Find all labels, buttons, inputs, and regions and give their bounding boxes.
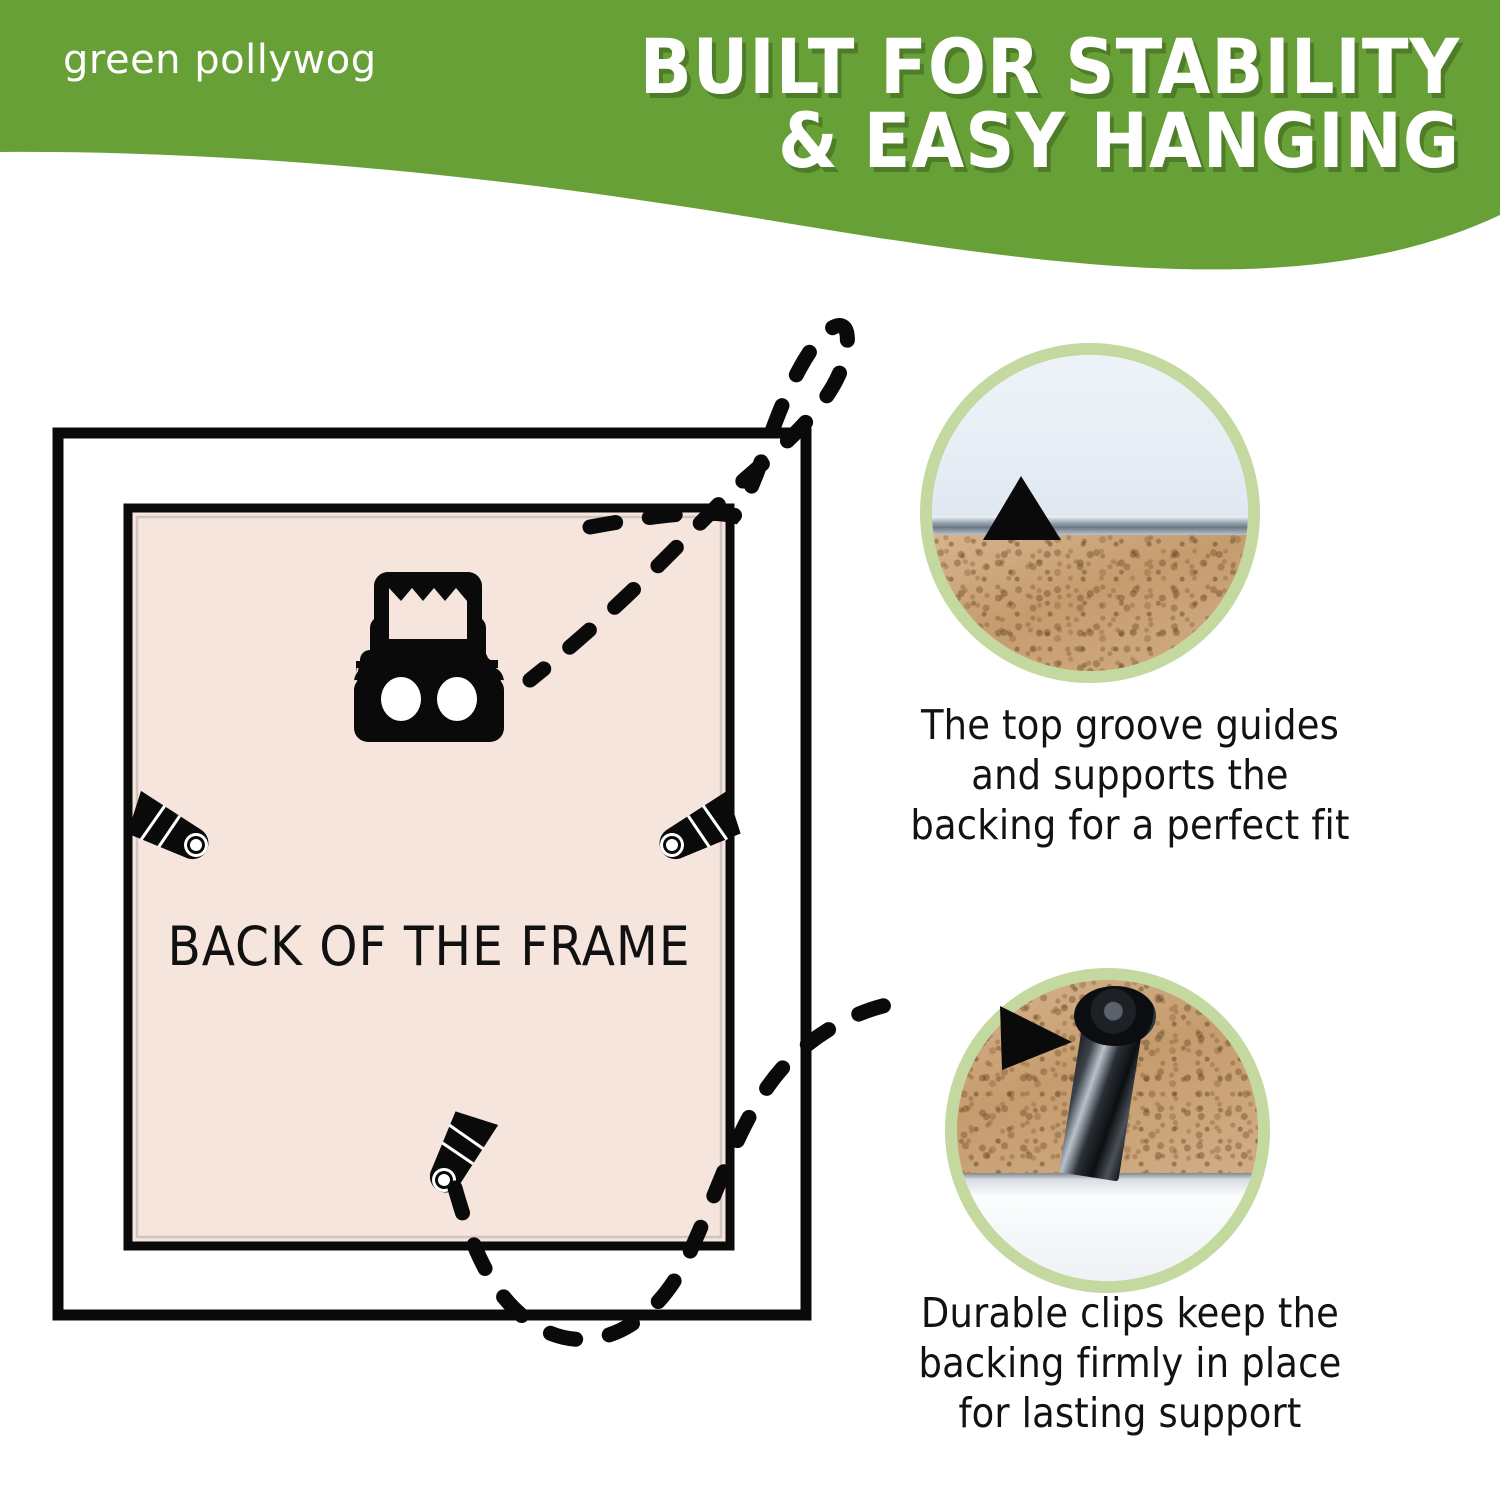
photo-metal-clip-rivet [1074,986,1155,1046]
photo-groove-closeup [920,343,1260,683]
hanger-hole-right [437,677,477,721]
caption-groove-line-3: backing for a perfect fit [832,800,1428,850]
caption-clip-line-3: for lasting support [832,1388,1428,1438]
caption-clip-line-2: backing firmly in place [832,1338,1428,1388]
triangle-pointer-groove [975,470,1065,560]
caption-groove: The top groove guides and supports the b… [832,700,1428,850]
caption-clip: Durable clips keep the backing firmly in… [832,1288,1428,1438]
triangle-pointer-clip [990,1000,1076,1080]
sawtooth-hanger-icon [354,572,504,742]
caption-clip-line-1: Durable clips keep the [832,1288,1428,1338]
caption-groove-line-1: The top groove guides [832,700,1428,750]
caption-groove-line-2: and supports the [832,750,1428,800]
frame-label: BACK OF THE FRAME [167,915,690,978]
frame-diagram: BACK OF THE FRAME [0,0,900,1450]
hanger-hole-left [381,677,421,721]
photo-frame-edge [957,1173,1258,1281]
infographic-canvas: green pollywog BUILT FOR STABILITY & EAS… [0,0,1500,1500]
